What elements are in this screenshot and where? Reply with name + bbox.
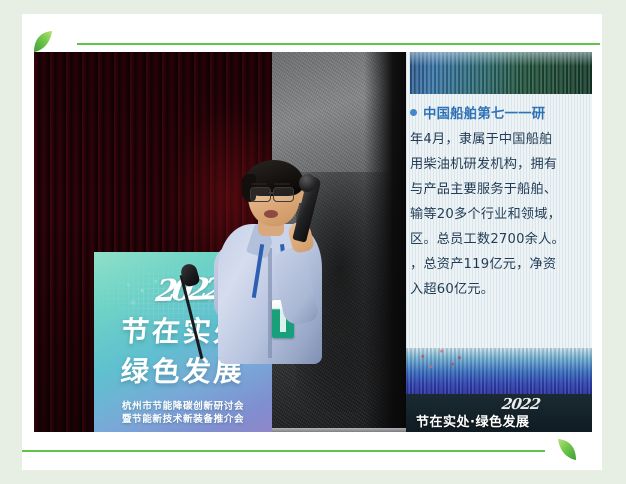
slide-line: 年4月，隶属于中国船舶: [410, 127, 592, 152]
wall-dark-edge: [364, 52, 412, 432]
projection-screen: 中国船舶第七一一研 年4月，隶属于中国船舶 用柴油机研发机构，拥有 与产品主要服…: [406, 52, 592, 394]
bullet-icon: [410, 109, 417, 116]
top-decoration-row: [22, 22, 602, 56]
divider-top: [77, 43, 600, 45]
slide-heading-text: 中国船舶第七一一研: [423, 107, 545, 122]
stage-banner-text: 节在实处·绿色发展: [416, 411, 592, 430]
conference-photo: 中国船舶第七一一研 年4月，隶属于中国船舶 用柴油机研发机构，拥有 与产品主要服…: [34, 52, 592, 432]
leaf-icon: [32, 30, 54, 54]
slide-line: 入超60亿元。: [410, 277, 592, 302]
speaker-figure: [212, 152, 342, 432]
divider-bottom: [22, 450, 545, 452]
speaker-mouth: [264, 210, 278, 218]
slide-lower-band: [406, 348, 592, 394]
slide-header-image: [410, 52, 592, 94]
slide-speckle: [412, 346, 466, 372]
slide-line: 输等20多个行业和领域，: [410, 202, 592, 227]
bottom-decoration-row: [22, 435, 602, 469]
glasses-bridge: [269, 192, 274, 194]
article-card: 中国船舶第七一一研 年4月，隶属于中国船舶 用柴油机研发机构，拥有 与产品主要服…: [22, 14, 602, 470]
slide-heading: 中国船舶第七一一研: [410, 102, 592, 127]
slide-line: 与产品主要服务于船舶、: [410, 177, 592, 202]
slide-line: 用柴油机研发机构，拥有: [410, 152, 592, 177]
slide-line: 区。总员工数2700余人。: [410, 227, 592, 252]
glasses-lens-left: [250, 187, 271, 202]
leaf-icon: [556, 438, 578, 462]
glasses-lens-right: [273, 187, 294, 202]
slide-line: ，总资产119亿元，净资: [410, 252, 592, 277]
article-frame: 中国船舶第七一一研 年4月，隶属于中国船舶 用柴油机研发机构，拥有 与产品主要服…: [0, 0, 626, 484]
stage-banner: 2022 节在实处·绿色发展: [406, 394, 592, 432]
slide-text-block: 中国船舶第七一一研 年4月，隶属于中国船舶 用柴油机研发机构，拥有 与产品主要服…: [410, 102, 592, 302]
